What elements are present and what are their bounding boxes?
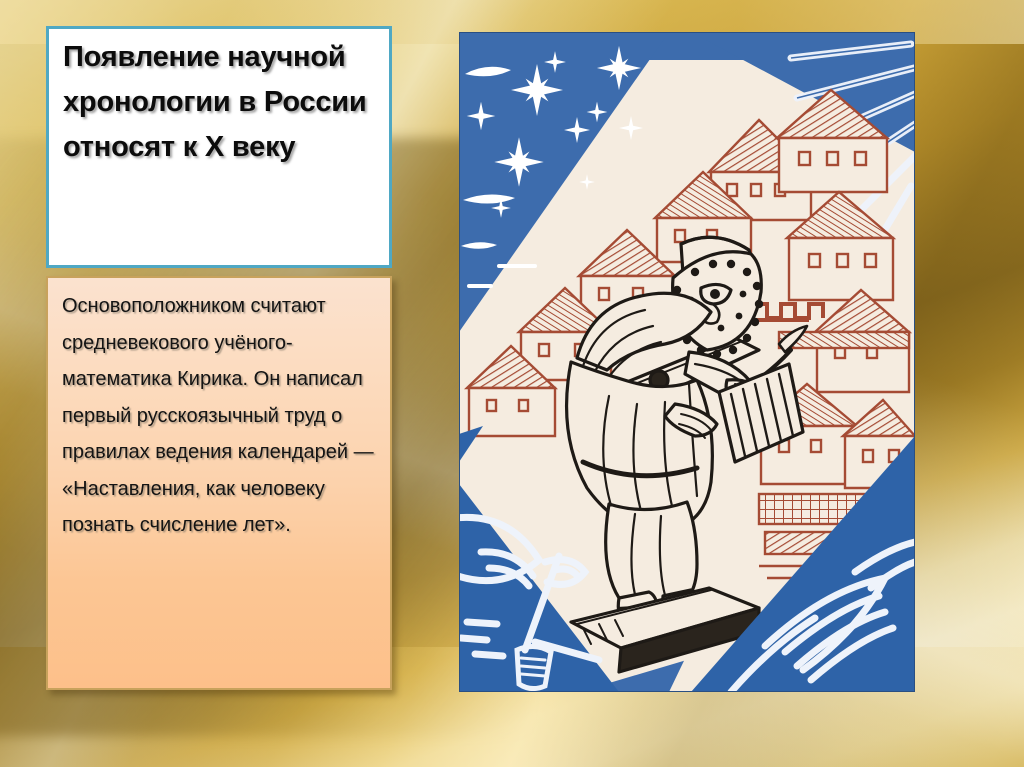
woodcut-illustration-svg <box>459 32 915 692</box>
slide-canvas: Появление научной хронологии в России от… <box>0 0 1024 767</box>
slide-title: Появление научной хронологии в России от… <box>63 35 379 170</box>
slide-body-paragraph: Основоположником считают средневекового … <box>62 288 382 544</box>
scribe-illustration <box>459 32 915 692</box>
title-text-box: Появление научной хронологии в России от… <box>46 26 392 268</box>
body-text-box: Основоположником считают средневекового … <box>46 276 392 690</box>
